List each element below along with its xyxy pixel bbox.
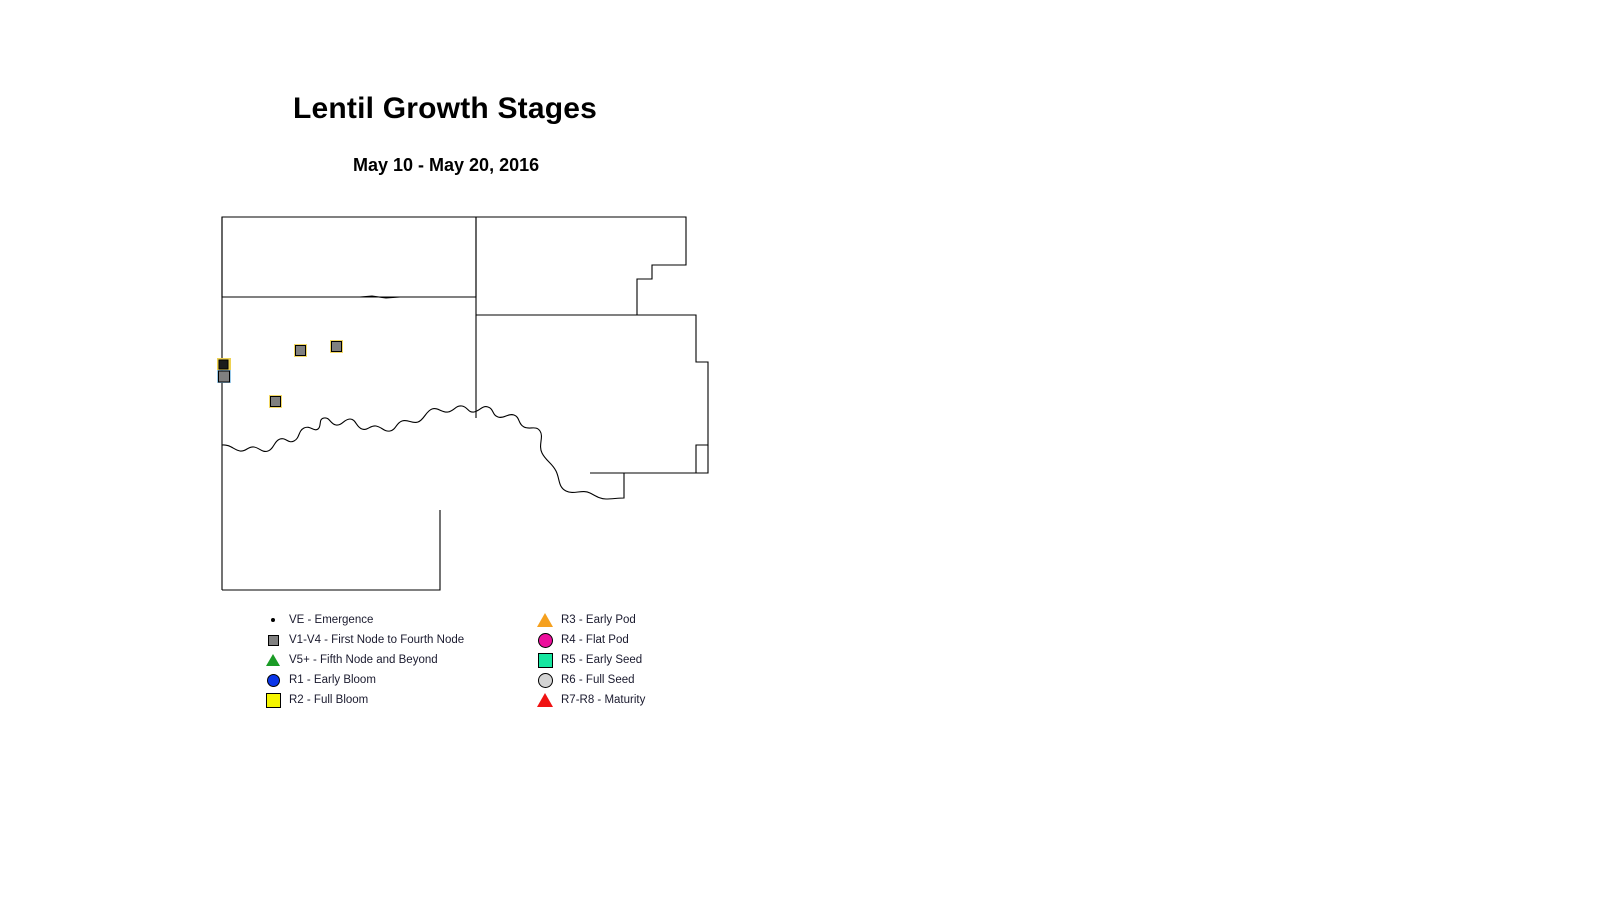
legend-label-v5plus: V5+ - Fifth Node and Beyond [289,650,438,670]
border-south-west [222,510,440,590]
v1v4-square-icon [262,630,284,650]
page-title: Lentil Growth Stages [293,92,597,126]
region-nw-top [222,217,476,297]
legend-label-r4: R4 - Flat Pod [561,630,629,650]
ve-emergence-dot-icon [262,610,284,630]
map-marker-v1v4-2[interactable] [330,340,343,353]
legend: VE - Emergence V1-V4 - First Node to Fou… [262,610,682,715]
r5-square-icon [534,650,556,670]
map-marker-v1v4-3[interactable] [269,395,282,408]
r6-circle-icon [534,670,556,690]
map-boundaries [222,217,708,590]
region-ne-top [476,217,686,315]
legend-item-r2[interactable]: R2 - Full Bloom [262,690,464,710]
divider-mid-north [222,296,476,298]
v5plus-triangle-icon [262,650,284,670]
legend-label-v1v4: V1-V4 - First Node to Fourth Node [289,630,464,650]
legend-label-r7r8: R7-R8 - Maturity [561,690,645,710]
legend-item-ve[interactable]: VE - Emergence [262,610,464,630]
region-east-mid [476,315,708,473]
legend-item-v5plus[interactable]: V5+ - Fifth Node and Beyond [262,650,464,670]
r1-circle-icon [262,670,284,690]
legend-item-r7r8[interactable]: R7-R8 - Maturity [534,690,645,710]
legend-label-r5: R5 - Early Seed [561,650,642,670]
r4-circle-icon [534,630,556,650]
r7r8-triangle-icon [534,690,556,710]
r2-square-icon [262,690,284,710]
region-east-lower [624,445,708,473]
legend-label-ve: VE - Emergence [289,610,373,630]
map-marker-cluster-west[interactable] [217,358,231,383]
legend-item-v1v4[interactable]: V1-V4 - First Node to Fourth Node [262,630,464,650]
river-boundary [222,406,624,499]
legend-item-r6[interactable]: R6 - Full Seed [534,670,645,690]
county-map-svg [200,205,760,605]
map-panel [200,205,760,605]
legend-item-r1[interactable]: R1 - Early Bloom [262,670,464,690]
r3-triangle-icon [534,610,556,630]
legend-label-r1: R1 - Early Bloom [289,670,376,690]
legend-item-r5[interactable]: R5 - Early Seed [534,650,645,670]
legend-item-r4[interactable]: R4 - Flat Pod [534,630,645,650]
legend-item-r3[interactable]: R3 - Early Pod [534,610,645,630]
map-marker-v1v4-1[interactable] [294,344,307,357]
legend-column-left: VE - Emergence V1-V4 - First Node to Fou… [262,610,464,710]
map-markers [217,340,343,408]
legend-label-r2: R2 - Full Bloom [289,690,368,710]
legend-column-right: R3 - Early Pod R4 - Flat Pod R5 - Early … [534,610,645,710]
legend-label-r6: R6 - Full Seed [561,670,635,690]
page-subtitle: May 10 - May 20, 2016 [353,155,539,176]
legend-label-r3: R3 - Early Pod [561,610,636,630]
